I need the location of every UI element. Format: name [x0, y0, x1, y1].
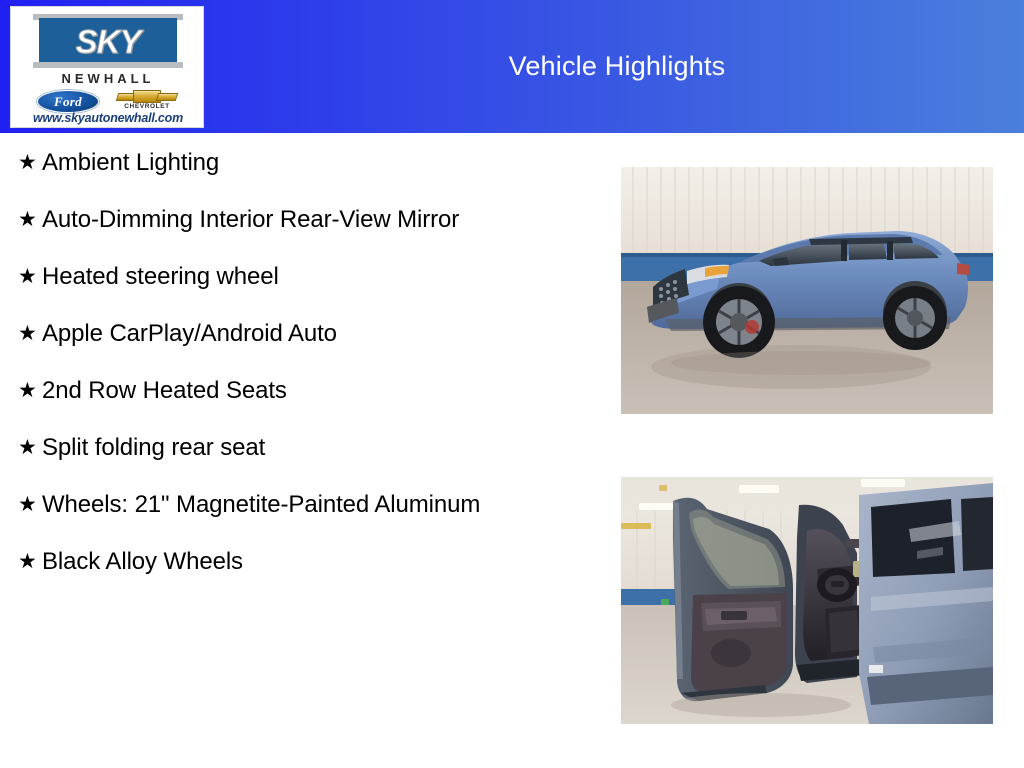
vehicle-photo-interior[interactable]: [621, 477, 993, 724]
dealer-logo[interactable]: SKY NEWHALL Ford CHEVROLET www.skyautone…: [10, 6, 204, 128]
list-item: ★ Auto-Dimming Interior Rear-View Mirror: [10, 205, 585, 235]
slide-vehicle-highlights: Vehicle Highlights SKY NEWHALL Ford CHEV…: [0, 0, 1024, 768]
ford-logo-text: Ford: [54, 95, 82, 108]
highlight-label: Split folding rear seat: [42, 433, 585, 463]
highlight-label: Apple CarPlay/Android Auto: [42, 319, 585, 349]
star-icon: ★: [10, 262, 42, 292]
highlight-label: 2nd Row Heated Seats: [42, 376, 585, 406]
vehicle-photo-exterior[interactable]: [621, 167, 993, 414]
vehicle-interior-illustration: [621, 477, 993, 724]
star-icon: ★: [10, 547, 42, 577]
list-item: ★ Black Alloy Wheels: [10, 547, 585, 577]
dealer-website-url[interactable]: www.skyautonewhall.com: [11, 111, 204, 125]
list-item: ★ Split folding rear seat: [10, 433, 585, 463]
highlight-label: Wheels: 21" Magnetite-Painted Aluminum: [42, 490, 585, 520]
dealer-location-text: NEWHALL: [11, 71, 204, 86]
highlight-label: Black Alloy Wheels: [42, 547, 585, 577]
highlight-label: Auto-Dimming Interior Rear-View Mirror: [42, 205, 585, 235]
star-icon: ★: [10, 148, 42, 178]
bowtie-shape: [117, 90, 177, 103]
star-icon: ★: [10, 433, 42, 463]
sky-logo-mark: SKY: [33, 14, 183, 68]
vehicle-exterior-illustration: [621, 167, 993, 414]
list-item: ★ Ambient Lighting: [10, 148, 585, 178]
chevrolet-logo-text: CHEVROLET: [115, 103, 179, 110]
highlights-list: ★ Ambient Lighting ★ Auto-Dimming Interi…: [10, 148, 585, 604]
list-item: ★ Heated steering wheel: [10, 262, 585, 292]
page-title: Vehicle Highlights: [210, 0, 1024, 133]
chevrolet-bowtie-icon: CHEVROLET: [115, 89, 179, 113]
ford-oval-icon: Ford: [37, 90, 99, 113]
list-item: ★ 2nd Row Heated Seats: [10, 376, 585, 406]
star-icon: ★: [10, 319, 42, 349]
star-icon: ★: [10, 205, 42, 235]
sky-logo-text: SKY: [76, 25, 141, 58]
highlight-label: Ambient Lighting: [42, 148, 585, 178]
bowtie-right-wing: [156, 93, 179, 101]
list-item: ★ Wheels: 21" Magnetite-Painted Aluminum: [10, 490, 585, 520]
star-icon: ★: [10, 376, 42, 406]
sky-logo-bottom-bar: [33, 62, 183, 68]
sky-logo-plate: SKY: [39, 18, 177, 64]
highlight-label: Heated steering wheel: [42, 262, 585, 292]
star-icon: ★: [10, 490, 42, 520]
franchise-logos: Ford CHEVROLET: [11, 89, 204, 113]
list-item: ★ Apple CarPlay/Android Auto: [10, 319, 585, 349]
